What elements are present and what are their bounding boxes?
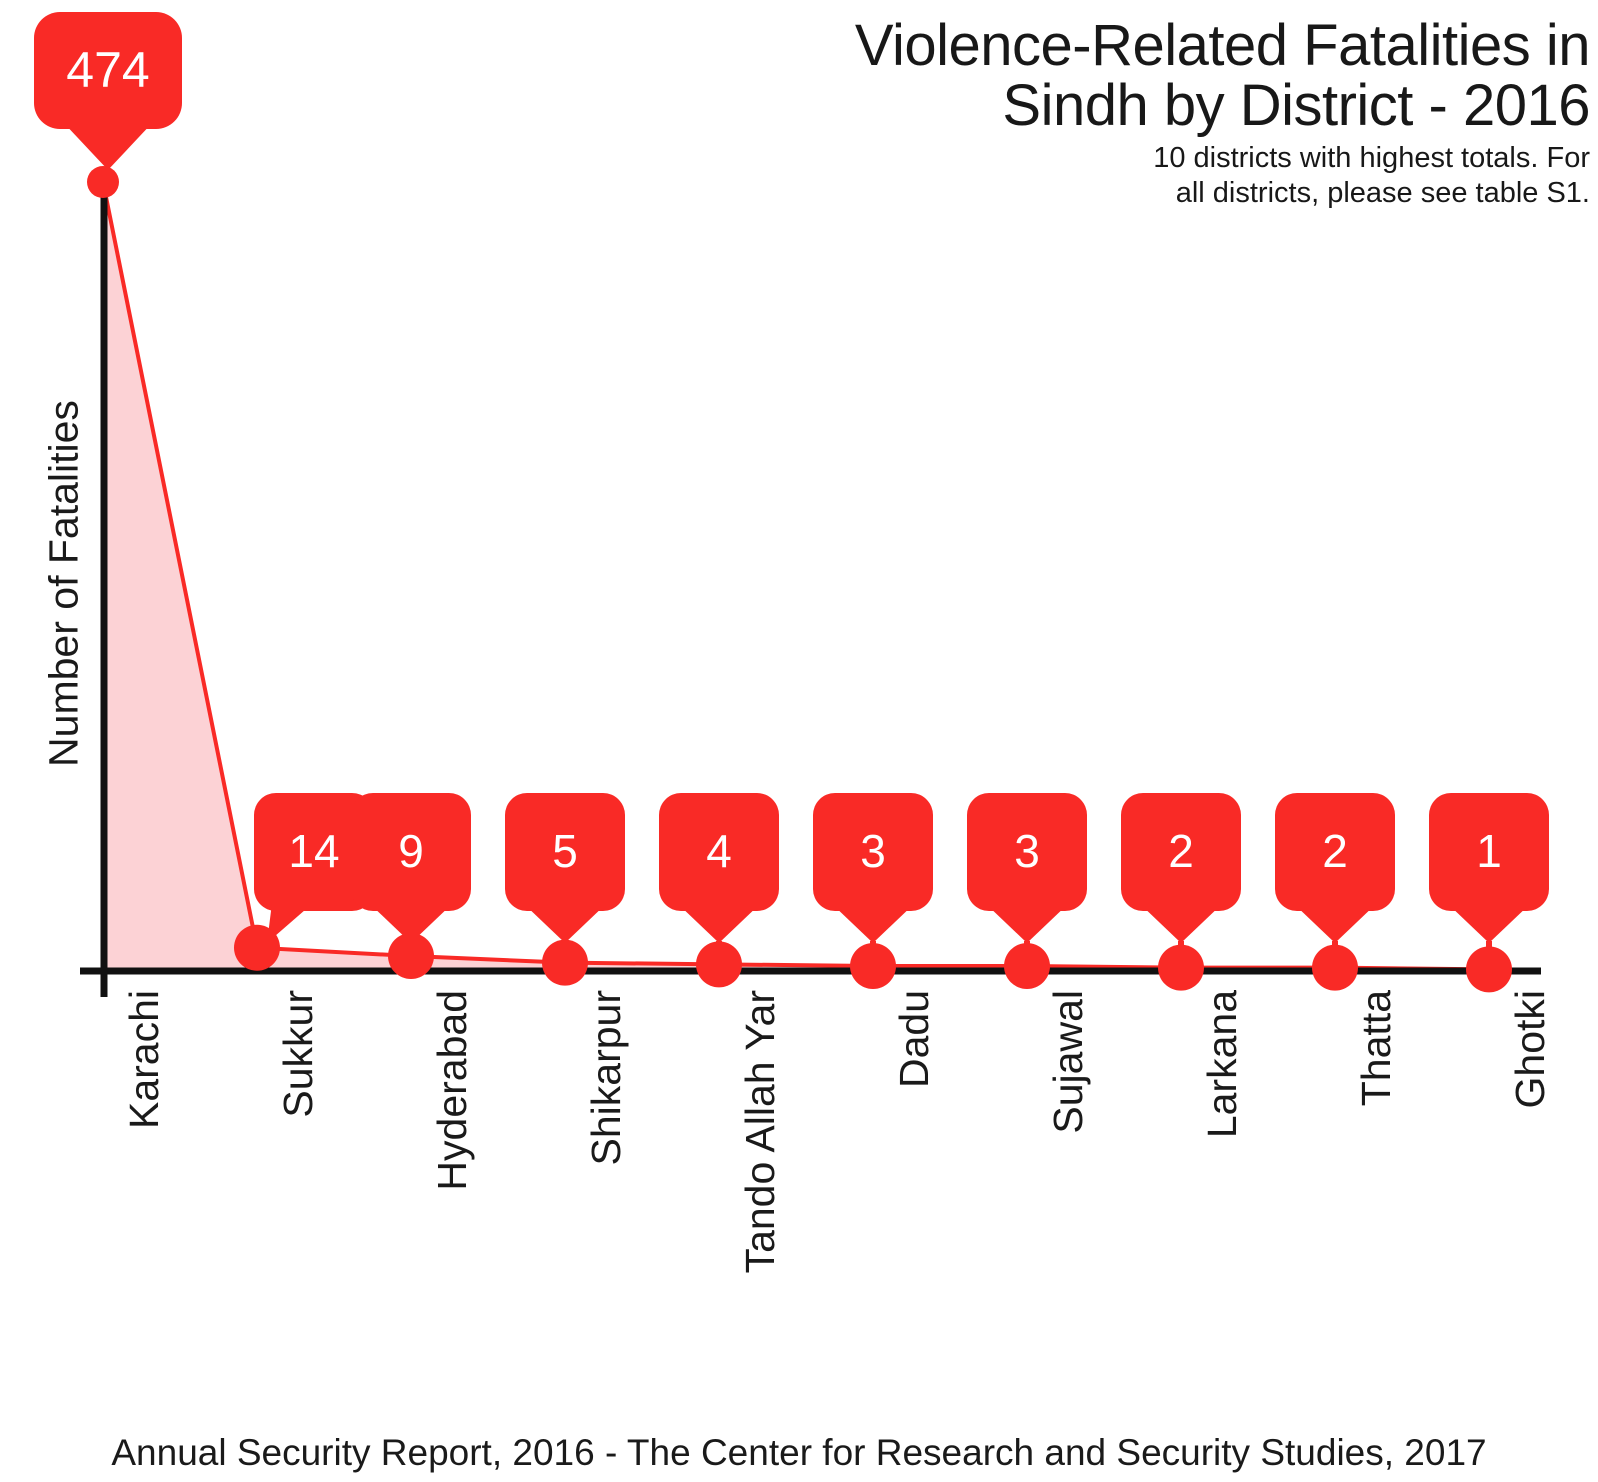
data-label-callout: 3 bbox=[967, 793, 1087, 911]
x-axis-tick-label-text: Karachi bbox=[121, 990, 167, 1129]
x-axis-tick-label: Karachi bbox=[124, 990, 165, 1410]
data-label-callout: 1 bbox=[1429, 793, 1549, 911]
data-label-value: 3 bbox=[1014, 828, 1040, 874]
x-axis-tick-label-text: Dadu bbox=[891, 990, 937, 1088]
data-label-callout: 2 bbox=[1121, 793, 1241, 911]
x-axis-tick-label-text: Ghotki bbox=[1507, 990, 1553, 1109]
chart-subtitle: 10 districts with highest totals. For al… bbox=[640, 141, 1590, 209]
data-point-marker bbox=[696, 941, 742, 987]
chart-header: Violence-Related Fatalities in Sindh by … bbox=[640, 0, 1590, 210]
data-label-value: 3 bbox=[860, 828, 886, 874]
x-axis-tick-label-text: Sukkur bbox=[275, 990, 321, 1118]
data-label-value: 1 bbox=[1476, 828, 1502, 874]
x-axis-tick-label: Larkana bbox=[1202, 990, 1243, 1410]
data-label-value: 5 bbox=[552, 828, 578, 874]
data-point-marker bbox=[1312, 945, 1358, 991]
data-label-callout: 474 bbox=[34, 12, 182, 129]
data-point-marker bbox=[87, 166, 119, 198]
source-caption: Annual Security Report, 2016 - The Cente… bbox=[0, 1432, 1598, 1474]
data-label-value: 9 bbox=[398, 828, 424, 874]
data-point-marker bbox=[850, 943, 896, 989]
x-axis-tick-label: Hyderabad bbox=[432, 990, 473, 1410]
x-axis-tick-label: Dadu bbox=[894, 990, 935, 1410]
page-title: Violence-Related Fatalities in Sindh by … bbox=[640, 16, 1590, 135]
data-label-value: 2 bbox=[1322, 828, 1348, 874]
data-point-marker bbox=[1158, 945, 1204, 991]
data-point-marker bbox=[234, 925, 280, 971]
x-axis-tick-label-text: Shikarpur bbox=[583, 990, 629, 1165]
x-axis-tick-label-text: Hyderabad bbox=[429, 990, 475, 1191]
data-label-value: 2 bbox=[1168, 828, 1194, 874]
data-label-callout: 9 bbox=[351, 793, 471, 911]
data-point-marker bbox=[542, 940, 588, 986]
data-label-callout: 5 bbox=[505, 793, 625, 911]
x-axis-tick-label: Tando Allah Yar bbox=[740, 990, 781, 1410]
x-axis-tick-label-text: Sujawal bbox=[1045, 990, 1091, 1134]
data-label-value: 474 bbox=[66, 45, 149, 95]
x-axis-tick-label: Sujawal bbox=[1048, 990, 1089, 1410]
data-point-marker bbox=[1004, 943, 1050, 989]
x-axis-tick-label-text: Thatta bbox=[1353, 990, 1399, 1106]
data-point-marker bbox=[1466, 946, 1512, 992]
data-label-callout: 4 bbox=[659, 793, 779, 911]
x-axis-tick-label: Sukkur bbox=[278, 990, 319, 1410]
x-axis-tick-label-text: Tando Allah Yar bbox=[737, 990, 783, 1273]
data-label-value: 4 bbox=[706, 828, 732, 874]
x-axis-tick-label: Ghotki bbox=[1510, 990, 1551, 1410]
chart-plot-area: Number of Fatalities KarachiSukkurHydera… bbox=[0, 0, 1598, 1400]
x-axis-tick-label: Shikarpur bbox=[586, 990, 627, 1410]
data-label-callout: 2 bbox=[1275, 793, 1395, 911]
data-label-callout: 3 bbox=[813, 793, 933, 911]
data-point-marker bbox=[388, 933, 434, 979]
x-axis-tick-label: Thatta bbox=[1356, 990, 1397, 1410]
data-label-value: 14 bbox=[288, 828, 339, 874]
x-axis-tick-label-text: Larkana bbox=[1199, 990, 1245, 1138]
